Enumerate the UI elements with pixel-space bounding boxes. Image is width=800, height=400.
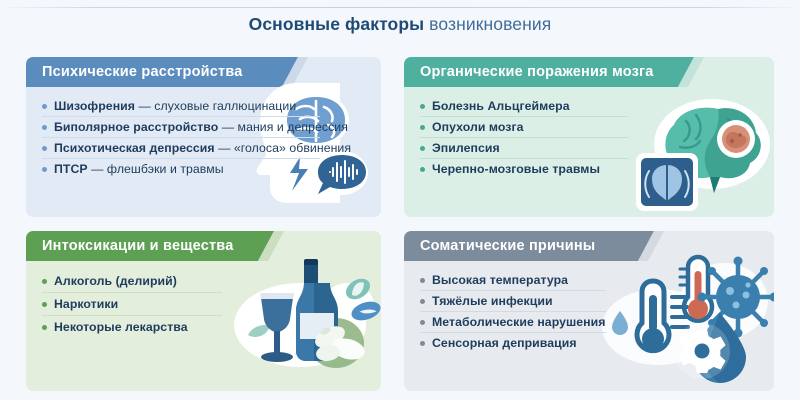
list-item[interactable]: Болезнь Альцгеймера: [420, 96, 774, 116]
bullet-icon: [42, 104, 47, 109]
panel-list-somatic-causes: Высокая температура Тяжёлые инфекции Мет…: [404, 261, 774, 391]
list-item[interactable]: Метаболические нарушения: [420, 312, 774, 332]
bullet-icon: [420, 278, 425, 283]
bullet-icon: [42, 302, 47, 307]
list-item-label: Метаболические нарушения: [432, 315, 605, 329]
list-item-label: Черепно-мозговые травмы: [432, 162, 600, 176]
list-item-label: ПТСР — флешбэки и травмы: [54, 162, 224, 176]
list-item-label: Наркотики: [54, 297, 118, 311]
list-item[interactable]: Алкоголь (делирий): [42, 270, 381, 292]
bullet-icon: [42, 325, 47, 330]
panel-intoxications-substances[interactable]: Интоксикации и вещества Алкоголь (делири…: [26, 231, 381, 391]
bullet-icon: [420, 320, 425, 325]
bullet-icon: [420, 125, 425, 130]
panel-header-somatic-causes: Соматические причины: [404, 231, 638, 261]
panel-somatic-causes[interactable]: Соматические причины Высокая температура…: [404, 231, 774, 391]
panel-organic-brain-lesions[interactable]: Органические поражения мозга Болезнь Аль…: [404, 57, 774, 217]
page-title: Основные факторы возникновения: [0, 14, 800, 35]
bullet-icon: [42, 167, 47, 172]
panel-list-intoxications-substances: Алкоголь (делирий) Наркотики Некоторые л…: [26, 261, 381, 391]
panel-list-organic-brain-lesions: Болезнь Альцгеймера Опухоли мозга Эпилеп…: [404, 87, 774, 217]
list-item[interactable]: Сенсорная депривация: [420, 333, 774, 353]
top-divider: [0, 7, 800, 8]
list-item-label: Психотическая депрессия — «голоса» обвин…: [54, 141, 351, 155]
bullet-icon: [420, 104, 425, 109]
list-item[interactable]: Тяжёлые инфекции: [420, 291, 774, 311]
list-item-label: Сенсорная депривация: [432, 336, 577, 350]
list-item-label: Шизофрения — слуховые галлюцинации: [54, 99, 296, 113]
list-item[interactable]: Опухоли мозга: [420, 117, 774, 137]
bullet-icon: [420, 299, 425, 304]
list-item[interactable]: ПТСР — флешбэки и травмы: [42, 159, 381, 179]
list-item-label: Биполярное расстройство — мания и депрес…: [54, 120, 348, 134]
bullet-icon: [420, 167, 425, 172]
panel-header-organic-brain-lesions: Органические поражения мозга: [404, 57, 678, 87]
panel-list-mental-disorders: Шизофрения — слуховые галлюцинации Бипол…: [26, 87, 381, 217]
list-item[interactable]: Психотическая депрессия — «голоса» обвин…: [42, 138, 381, 158]
list-item[interactable]: Черепно-мозговые травмы: [420, 159, 774, 179]
list-item-label: Некоторые лекарства: [54, 320, 188, 334]
list-item-label: Высокая температура: [432, 273, 568, 287]
panel-header-mental-disorders: Психические расстройства: [26, 57, 282, 87]
list-item[interactable]: Высокая температура: [420, 270, 774, 290]
list-item[interactable]: Некоторые лекарства: [42, 316, 381, 338]
bullet-icon: [42, 279, 47, 284]
page-title-strong: Основные факторы: [249, 14, 425, 34]
list-item[interactable]: Наркотики: [42, 293, 381, 315]
list-item-label: Эпилепсия: [432, 141, 500, 155]
bullet-icon: [42, 125, 47, 130]
page-title-light: возникновения: [429, 14, 551, 34]
panel-mental-disorders[interactable]: Психические расстройства Шизофрения — сл…: [26, 57, 381, 217]
panel-header-intoxications-substances: Интоксикации и вещества: [26, 231, 258, 261]
bullet-icon: [420, 146, 425, 151]
list-item-label: Болезнь Альцгеймера: [432, 99, 570, 113]
bullet-icon: [420, 341, 425, 346]
list-item[interactable]: Шизофрения — слуховые галлюцинации: [42, 96, 381, 116]
list-item-label: Тяжёлые инфекции: [432, 294, 553, 308]
bullet-icon: [42, 146, 47, 151]
list-item[interactable]: Эпилепсия: [420, 138, 774, 158]
list-item-label: Алкоголь (делирий): [54, 274, 177, 288]
list-item[interactable]: Биполярное расстройство — мания и депрес…: [42, 117, 381, 137]
list-item-label: Опухоли мозга: [432, 120, 524, 134]
